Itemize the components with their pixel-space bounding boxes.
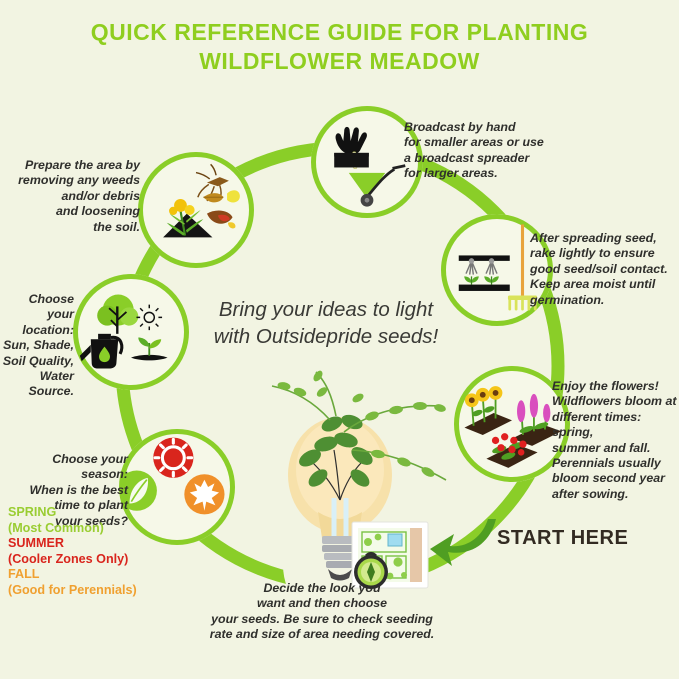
- infographic-canvas: QUICK REFERENCE GUIDE FOR PLANTING WILDF…: [0, 0, 679, 679]
- curved-arrow-left-icon: [0, 0, 679, 679]
- start-here-label: START HERE: [497, 527, 628, 550]
